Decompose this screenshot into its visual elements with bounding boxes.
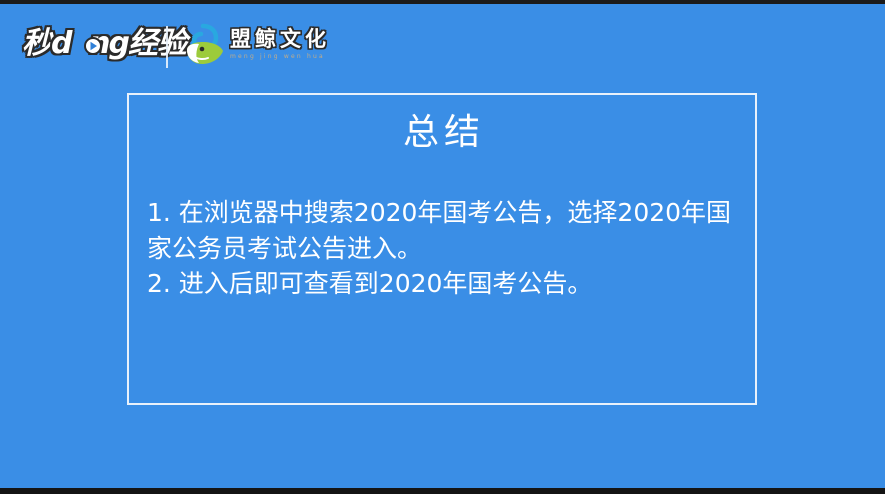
page-title: 总结 [129, 113, 759, 153]
play-circle-icon [84, 37, 102, 55]
miaodong-logo-letter-d: d [51, 26, 70, 61]
mengjing-title: 盟鲸文化 [230, 28, 330, 50]
mengjing-wenhua-logo: 盟鲸文化 meng jing wen hua [180, 20, 330, 68]
miaodong-logo-wordmark: 秒dong经验 [22, 29, 186, 59]
mengjing-pinyin: meng jing wen hua [230, 53, 330, 60]
brand-divider [166, 26, 168, 68]
slide-canvas: 秒dong经验 盟鲸文化 meng jing we [0, 0, 885, 494]
miaodong-logo-chars-jingyan: 经验 [128, 26, 186, 61]
summary-card: 总结 1. 在浏览器中搜索2020年国考公告，选择2020年国家公务员考试公告进… [127, 93, 757, 405]
summary-line-1: 1. 在浏览器中搜索2020年国考公告，选择2020年国家公务员考试公告进入。 [147, 195, 747, 266]
bottom-letterbox-strip [0, 488, 885, 494]
summary-body: 1. 在浏览器中搜索2020年国考公告，选择2020年国家公务员考试公告进入。 … [147, 195, 747, 302]
mengjing-text-block: 盟鲸文化 meng jing wen hua [230, 28, 330, 60]
miaodong-jingyan-logo: 秒dong经验 [22, 18, 186, 70]
whale-icon [180, 20, 226, 68]
summary-line-2: 2. 进入后即可查看到2020年国考公告。 [147, 266, 747, 302]
branding-bar: 秒dong经验 盟鲸文化 meng jing we [0, 4, 885, 88]
miaodong-logo-char-miao: 秒 [22, 26, 51, 61]
